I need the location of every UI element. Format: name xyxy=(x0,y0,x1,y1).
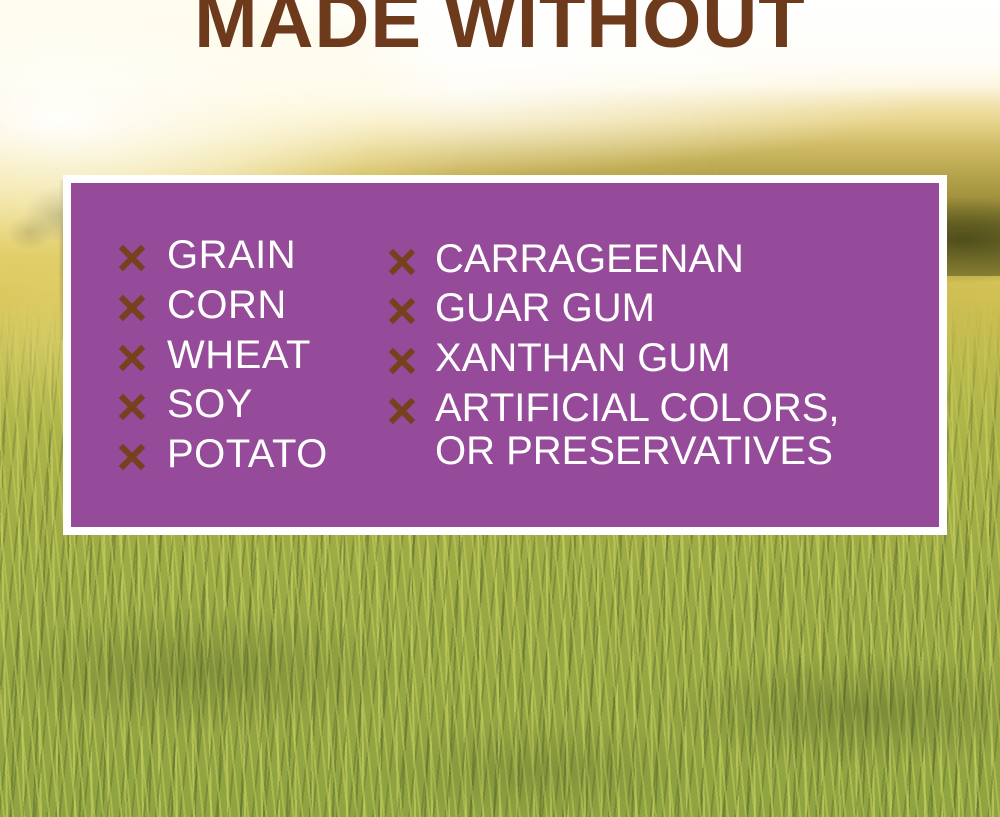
made-without-panel: GRAIN CORN WHEAT xyxy=(63,175,947,535)
list-item: XANTHAN GUM xyxy=(387,337,939,380)
list-item: POTATO xyxy=(117,433,387,476)
ingredient-column-left: GRAIN CORN WHEAT xyxy=(117,234,387,476)
list-item: GUAR GUM xyxy=(387,287,939,330)
list-item-label: GRAIN xyxy=(167,234,296,277)
ingredient-columns: GRAIN CORN WHEAT xyxy=(71,234,939,476)
list-item-label: CARRAGEENAN xyxy=(435,238,744,281)
list-item-label: XANTHAN GUM xyxy=(435,337,731,380)
x-mark-icon xyxy=(117,243,147,273)
x-mark-icon xyxy=(117,343,147,373)
list-item: GRAIN xyxy=(117,234,387,277)
list-item: WHEAT xyxy=(117,334,387,377)
x-mark-icon xyxy=(387,296,417,326)
page-title: MADE WITHOUT xyxy=(0,0,1000,60)
ingredient-column-right: CARRAGEENAN GUAR GUM XANTHAN GUM xyxy=(387,234,939,476)
list-item-label: WHEAT xyxy=(167,334,311,377)
x-mark-icon xyxy=(387,346,417,376)
list-item: ARTIFICIAL COLORS, OR PRESERVATIVES xyxy=(387,387,939,473)
x-mark-icon xyxy=(117,293,147,323)
promo-graphic: MADE WITHOUT GRAIN CORN xyxy=(0,0,1000,817)
x-mark-icon xyxy=(117,392,147,422)
list-item-label: SOY xyxy=(167,383,253,426)
list-item-label: GUAR GUM xyxy=(435,287,655,330)
x-mark-icon xyxy=(117,442,147,472)
list-item: CORN xyxy=(117,284,387,327)
list-item: SOY xyxy=(117,383,387,426)
list-item-label: ARTIFICIAL COLORS, OR PRESERVATIVES xyxy=(435,387,840,473)
x-mark-icon xyxy=(387,396,417,426)
list-item-label: CORN xyxy=(167,284,287,327)
list-item-label: POTATO xyxy=(167,433,328,476)
x-mark-icon xyxy=(387,247,417,277)
list-item: CARRAGEENAN xyxy=(387,238,939,281)
